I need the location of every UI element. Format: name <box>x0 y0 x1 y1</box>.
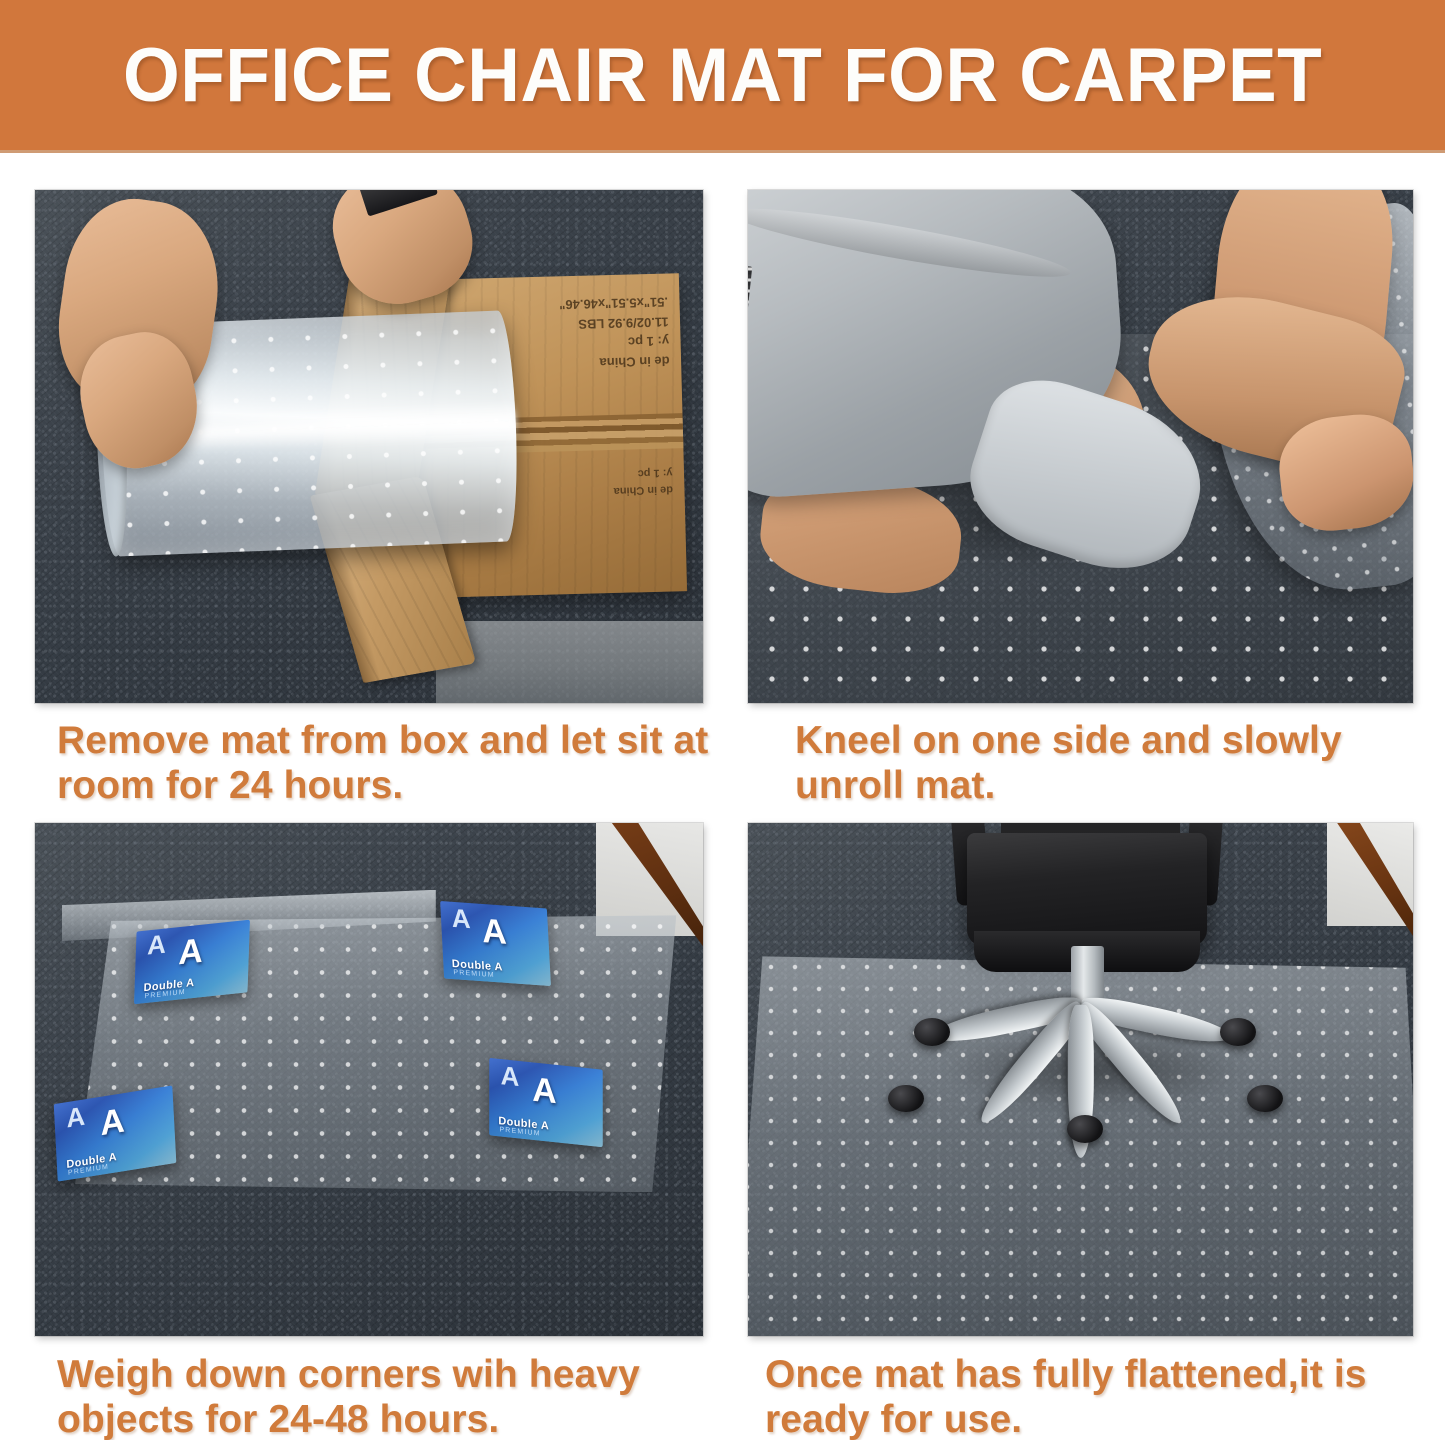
chair-caster <box>1247 1085 1283 1113</box>
chair-caster <box>1220 1018 1256 1046</box>
step-1-caption: Remove mat from box and let sit at room … <box>57 718 717 808</box>
page-title: OFFICE CHAIR MAT FOR CARPET <box>123 38 1322 114</box>
box-label-lower-line1: y: 1 pc <box>637 467 672 480</box>
box-label-line4: de in China <box>599 354 669 371</box>
box-logo-lowercase: A <box>451 906 471 931</box>
paper-ream-box: A A Double A PREMIUM <box>134 919 249 1003</box>
step-3-caption: Weigh down corners wih heavy objects for… <box>57 1352 717 1440</box>
paper-ream-box: A A Double A PREMIUM <box>441 901 552 986</box>
step-4-photo <box>748 823 1413 1336</box>
step-2-caption: Kneel on one side and slowly unroll mat. <box>795 718 1415 808</box>
chair-caster <box>914 1018 950 1046</box>
paper-ream-box: A A Double A PREMIUM <box>490 1058 603 1147</box>
box-label-line3: y: 1 pc <box>627 334 669 350</box>
step-1-photo: de in China y: 1 pc 11.02/9.92 LBS .51"x… <box>35 190 703 703</box>
step-3-photo: A A Double A PREMIUM A A Double A PREMIU… <box>35 823 703 1336</box>
step-2-photo <box>748 190 1413 703</box>
step-3-cell: A A Double A PREMIUM A A Double A PREMIU… <box>35 823 703 1336</box>
step-4-caption: Once mat has fully flattened,it is ready… <box>765 1352 1425 1440</box>
infographic-page: OFFICE CHAIR MAT FOR CARPET de in China … <box>0 0 1445 1440</box>
box-logo-uppercase: A <box>178 936 204 969</box>
box-logo-lowercase: A <box>147 932 167 958</box>
box-label-line2: 11.02/9.92 LBS <box>578 315 669 332</box>
step-2-cell <box>748 190 1413 703</box>
chair-seat <box>967 833 1206 946</box>
shorts-side-stripe <box>748 264 752 406</box>
floor-strip <box>436 621 703 703</box>
box-logo-uppercase: A <box>482 916 508 948</box>
step-1-cell: de in China y: 1 pc 11.02/9.92 LBS .51"x… <box>35 190 703 703</box>
box-logo-lowercase: A <box>501 1064 520 1089</box>
shorts-fold <box>748 198 1073 289</box>
header-banner: OFFICE CHAIR MAT FOR CARPET <box>0 0 1445 152</box>
box-logo-lowercase: A <box>66 1104 86 1130</box>
box-logo-uppercase: A <box>100 1105 126 1140</box>
box-label-line1: .51"x5.51"x46.46" <box>559 295 668 313</box>
chair-caster <box>1067 1115 1103 1143</box>
chair-caster <box>888 1085 924 1113</box>
banner-divider <box>0 150 1445 153</box>
step-4-cell <box>748 823 1413 1336</box>
box-logo-uppercase: A <box>532 1075 556 1108</box>
box-label-lower-line2: de in China <box>613 483 673 497</box>
